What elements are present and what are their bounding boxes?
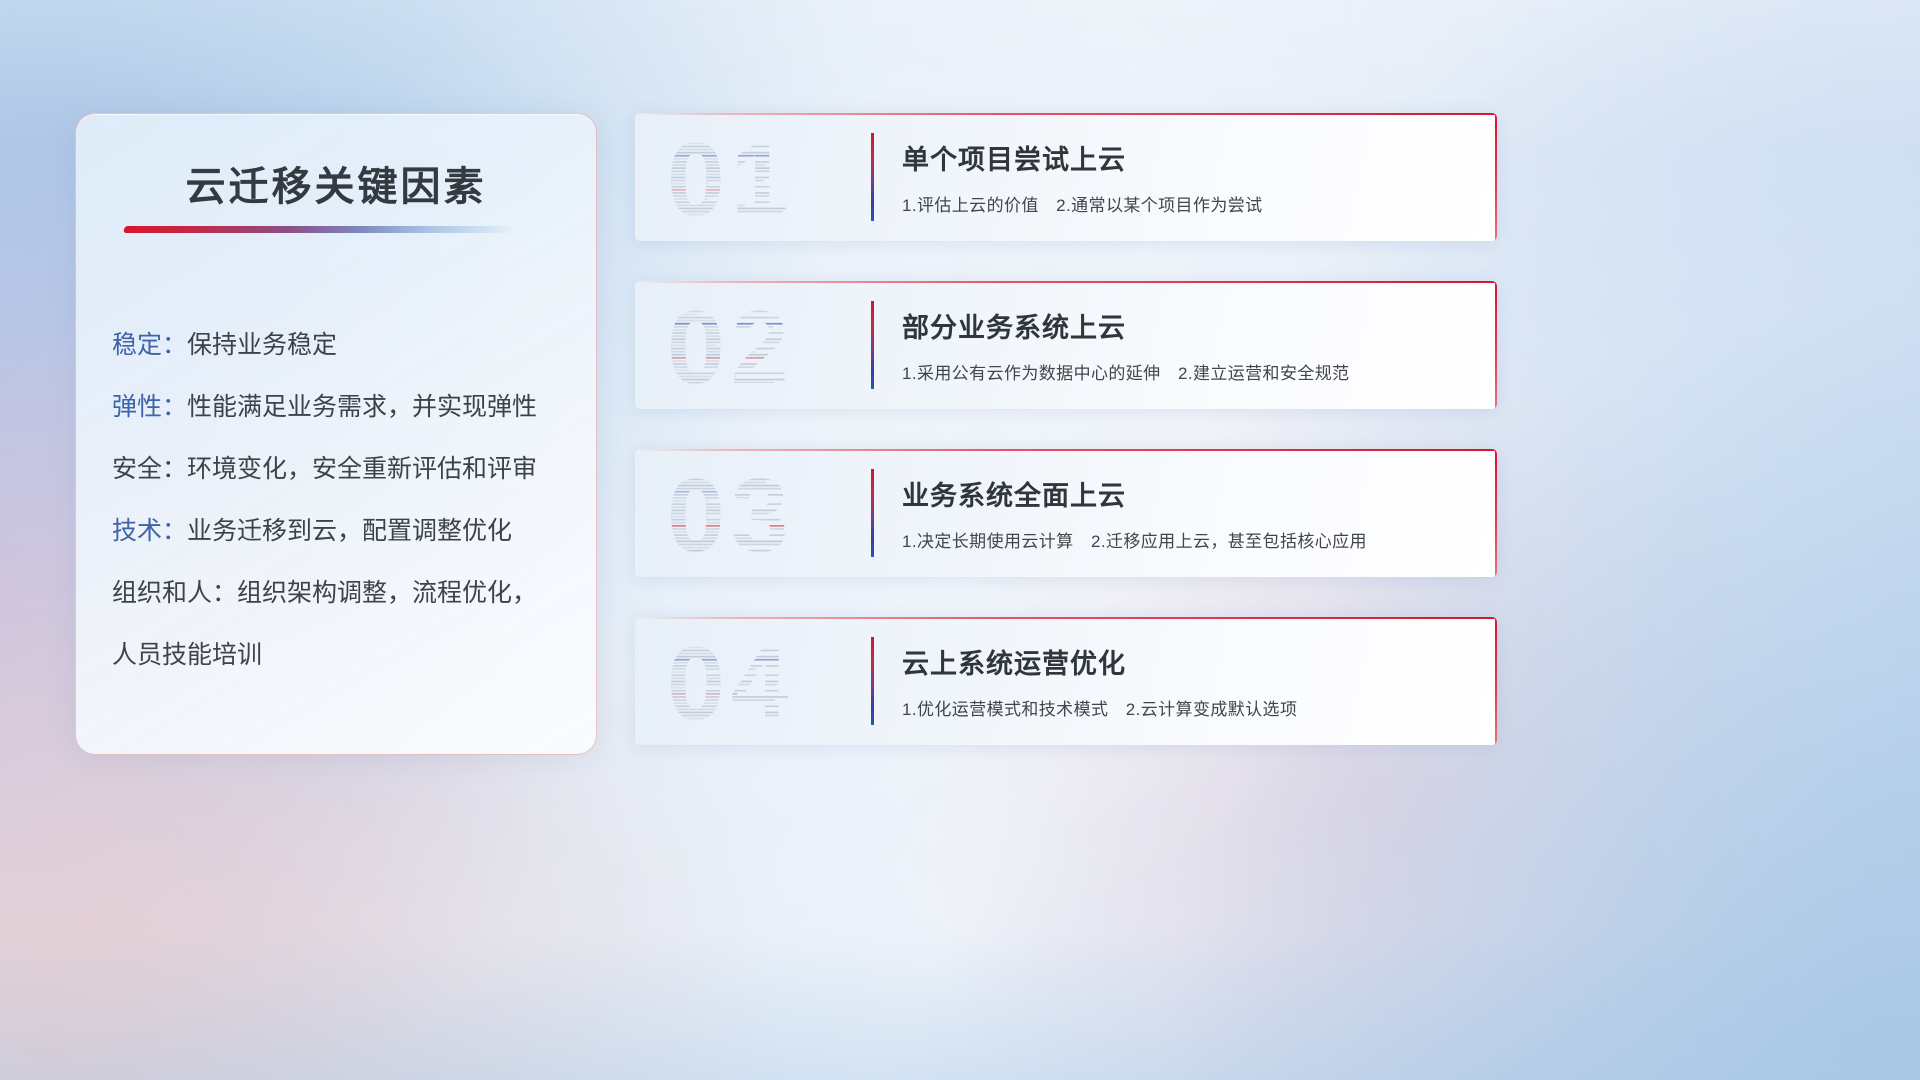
step-number-glyph: 01 bbox=[663, 127, 863, 227]
step-card-inner: 01单个项目尝试上云1.评估上云的价值 2.通常以某个项目作为尝试 bbox=[635, 113, 1497, 241]
step-text-group: 单个项目尝试上云1.评估上云的价值 2.通常以某个项目作为尝试 bbox=[902, 138, 1283, 216]
page-title: 云迁移关键因素 bbox=[76, 154, 596, 212]
step-card-inner: 04云上系统运营优化1.优化运营模式和技术模式 2.云计算变成默认选项 bbox=[635, 617, 1497, 745]
step-divider-bar bbox=[871, 469, 874, 557]
factor-list: 稳定：保持业务稳定弹性：性能满足业务需求，并实现弹性安全：环境变化，安全重新评估… bbox=[112, 314, 574, 686]
factor-label: 组织和人： bbox=[112, 579, 237, 607]
factor-row: 人员技能培训 bbox=[112, 624, 574, 686]
step-divider-bar bbox=[871, 301, 874, 389]
step-title: 部分业务系统上云 bbox=[902, 306, 1350, 345]
step-card-inner: 03业务系统全面上云1.决定长期使用云计算 2.迁移应用上云，甚至包括核心应用 bbox=[635, 449, 1497, 577]
step-text-group: 云上系统运营优化1.优化运营模式和技术模式 2.云计算变成默认选项 bbox=[902, 642, 1317, 720]
step-card-inner: 02部分业务系统上云1.采用公有云作为数据中心的延伸 2.建立运营和安全规范 bbox=[635, 281, 1497, 409]
key-factors-panel: 云迁移关键因素 稳定：保持业务稳定弹性：性能满足业务需求，并实现弹性安全：环境变… bbox=[75, 113, 597, 755]
step-number: 03 bbox=[663, 463, 863, 563]
factor-text: 环境变化，安全重新评估和评审 bbox=[187, 455, 537, 483]
step-number-glyph: 02 bbox=[663, 295, 863, 395]
factor-row: 安全：环境变化，安全重新评估和评审 bbox=[112, 438, 574, 500]
maturity-step-list: 01单个项目尝试上云1.评估上云的价值 2.通常以某个项目作为尝试02部分业务系… bbox=[635, 113, 1497, 785]
factor-row: 稳定：保持业务稳定 bbox=[112, 314, 574, 376]
step-text-group: 业务系统全面上云1.决定长期使用云计算 2.迁移应用上云，甚至包括核心应用 bbox=[902, 474, 1387, 552]
factor-row: 组织和人：组织架构调整，流程优化， bbox=[112, 562, 574, 624]
factor-text: 保持业务稳定 bbox=[187, 331, 337, 359]
step-divider-bar bbox=[871, 637, 874, 725]
step-subtitle: 1.优化运营模式和技术模式 2.云计算变成默认选项 bbox=[902, 695, 1297, 720]
factor-text: 业务迁移到云，配置调整优化 bbox=[187, 517, 512, 545]
step-subtitle: 1.采用公有云作为数据中心的延伸 2.建立运营和安全规范 bbox=[902, 359, 1350, 384]
factor-text: 性能满足业务需求，并实现弹性 bbox=[187, 393, 537, 421]
step-number-glyph: 03 bbox=[663, 463, 863, 563]
step-divider-bar bbox=[871, 133, 874, 221]
title-underline-accent bbox=[123, 226, 515, 233]
step-text-group: 部分业务系统上云1.采用公有云作为数据中心的延伸 2.建立运营和安全规范 bbox=[902, 306, 1370, 384]
factor-row: 弹性：性能满足业务需求，并实现弹性 bbox=[112, 376, 574, 438]
factor-text: 组织架构调整，流程优化， bbox=[237, 579, 537, 607]
step-card[interactable]: 01单个项目尝试上云1.评估上云的价值 2.通常以某个项目作为尝试 bbox=[635, 113, 1497, 241]
factor-label: 稳定： bbox=[112, 331, 187, 359]
step-subtitle: 1.评估上云的价值 2.通常以某个项目作为尝试 bbox=[902, 191, 1263, 216]
step-card[interactable]: 04云上系统运营优化1.优化运营模式和技术模式 2.云计算变成默认选项 bbox=[635, 617, 1497, 745]
factor-label: 技术： bbox=[112, 517, 187, 545]
factor-row: 技术：业务迁移到云，配置调整优化 bbox=[112, 500, 574, 562]
factor-label: 安全： bbox=[112, 455, 187, 483]
step-number: 04 bbox=[663, 631, 863, 731]
step-title: 业务系统全面上云 bbox=[902, 474, 1367, 513]
factor-text: 人员技能培训 bbox=[112, 641, 262, 669]
step-card[interactable]: 02部分业务系统上云1.采用公有云作为数据中心的延伸 2.建立运营和安全规范 bbox=[635, 281, 1497, 409]
step-title: 云上系统运营优化 bbox=[902, 642, 1297, 681]
step-number: 02 bbox=[663, 295, 863, 395]
factor-label: 弹性： bbox=[112, 393, 187, 421]
step-title: 单个项目尝试上云 bbox=[902, 138, 1263, 177]
step-number: 01 bbox=[663, 127, 863, 227]
step-subtitle: 1.决定长期使用云计算 2.迁移应用上云，甚至包括核心应用 bbox=[902, 527, 1367, 552]
step-number-glyph: 04 bbox=[663, 631, 863, 731]
step-card[interactable]: 03业务系统全面上云1.决定长期使用云计算 2.迁移应用上云，甚至包括核心应用 bbox=[635, 449, 1497, 577]
